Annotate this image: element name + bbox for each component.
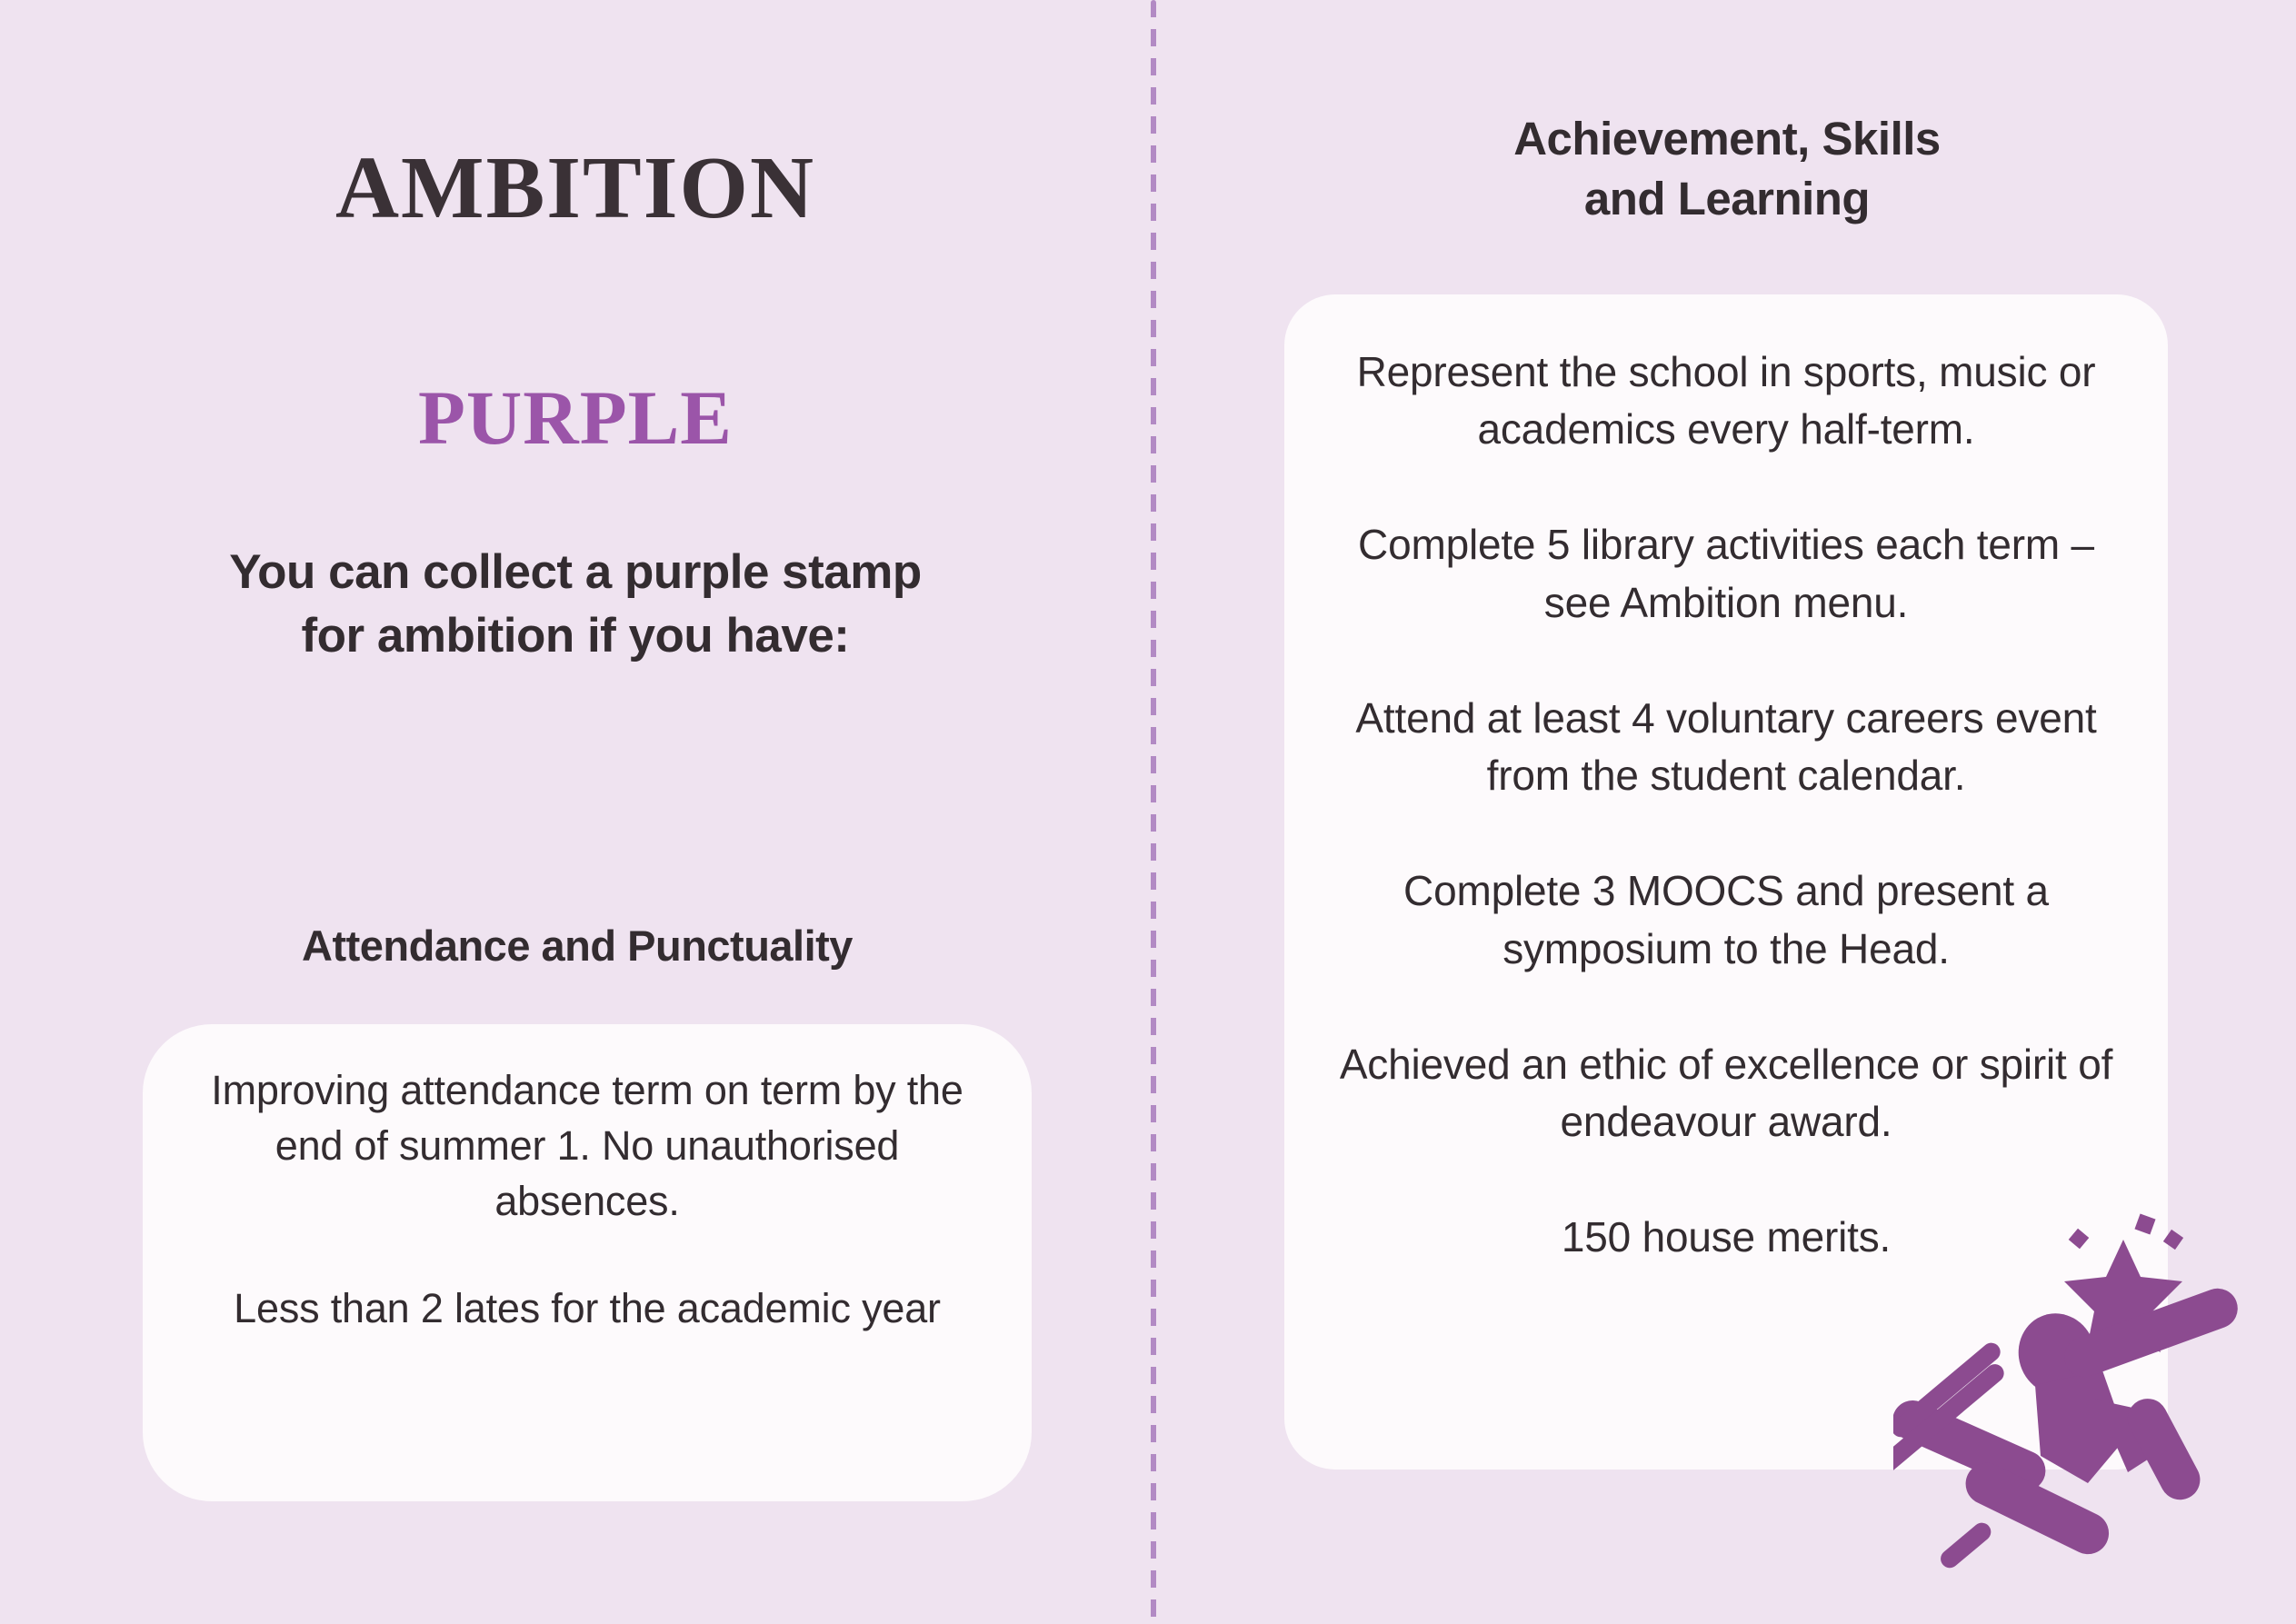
- attendance-criteria-card: Improving attendance term on term by the…: [143, 1024, 1032, 1501]
- left-column: AMBITION PURPLE You can collect a purple…: [0, 0, 1151, 1624]
- page-title: AMBITION: [0, 144, 1151, 232]
- achievement-criteria-list: Represent the school in sports, music or…: [1332, 344, 2121, 1267]
- list-item: Less than 2 lates for the academic year: [197, 1280, 977, 1336]
- list-item: Complete 3 MOOCS and present a symposium…: [1332, 862, 2121, 978]
- list-item: Improving attendance term on term by the…: [197, 1062, 977, 1230]
- section-heading-attendance: Attendance and Punctuality: [109, 921, 1045, 971]
- list-item: Represent the school in sports, music or…: [1332, 344, 2121, 459]
- list-item: Achieved an ethic of excellence or spiri…: [1332, 1036, 2121, 1151]
- poster-root: AMBITION PURPLE You can collect a purple…: [0, 0, 2296, 1624]
- lead-instruction-text: You can collect a purple stamp for ambit…: [198, 541, 953, 668]
- list-item: 150 house merits.: [1332, 1209, 2121, 1266]
- vertical-dashed-divider: [1151, 0, 1156, 1624]
- section-heading-achievement: Achievement, Skills and Learning: [1227, 109, 2227, 230]
- list-item: Complete 5 library activities each term …: [1332, 516, 2121, 632]
- section-heading-line-1: Achievement, Skills: [1513, 113, 1941, 164]
- section-heading-line-2: and Learning: [1584, 173, 1870, 224]
- attendance-criteria-list: Improving attendance term on term by the…: [197, 1062, 977, 1336]
- list-item: Attend at least 4 voluntary careers even…: [1332, 690, 2121, 805]
- achievement-criteria-card: Represent the school in sports, music or…: [1284, 294, 2168, 1470]
- colour-name-heading: PURPLE: [0, 380, 1151, 457]
